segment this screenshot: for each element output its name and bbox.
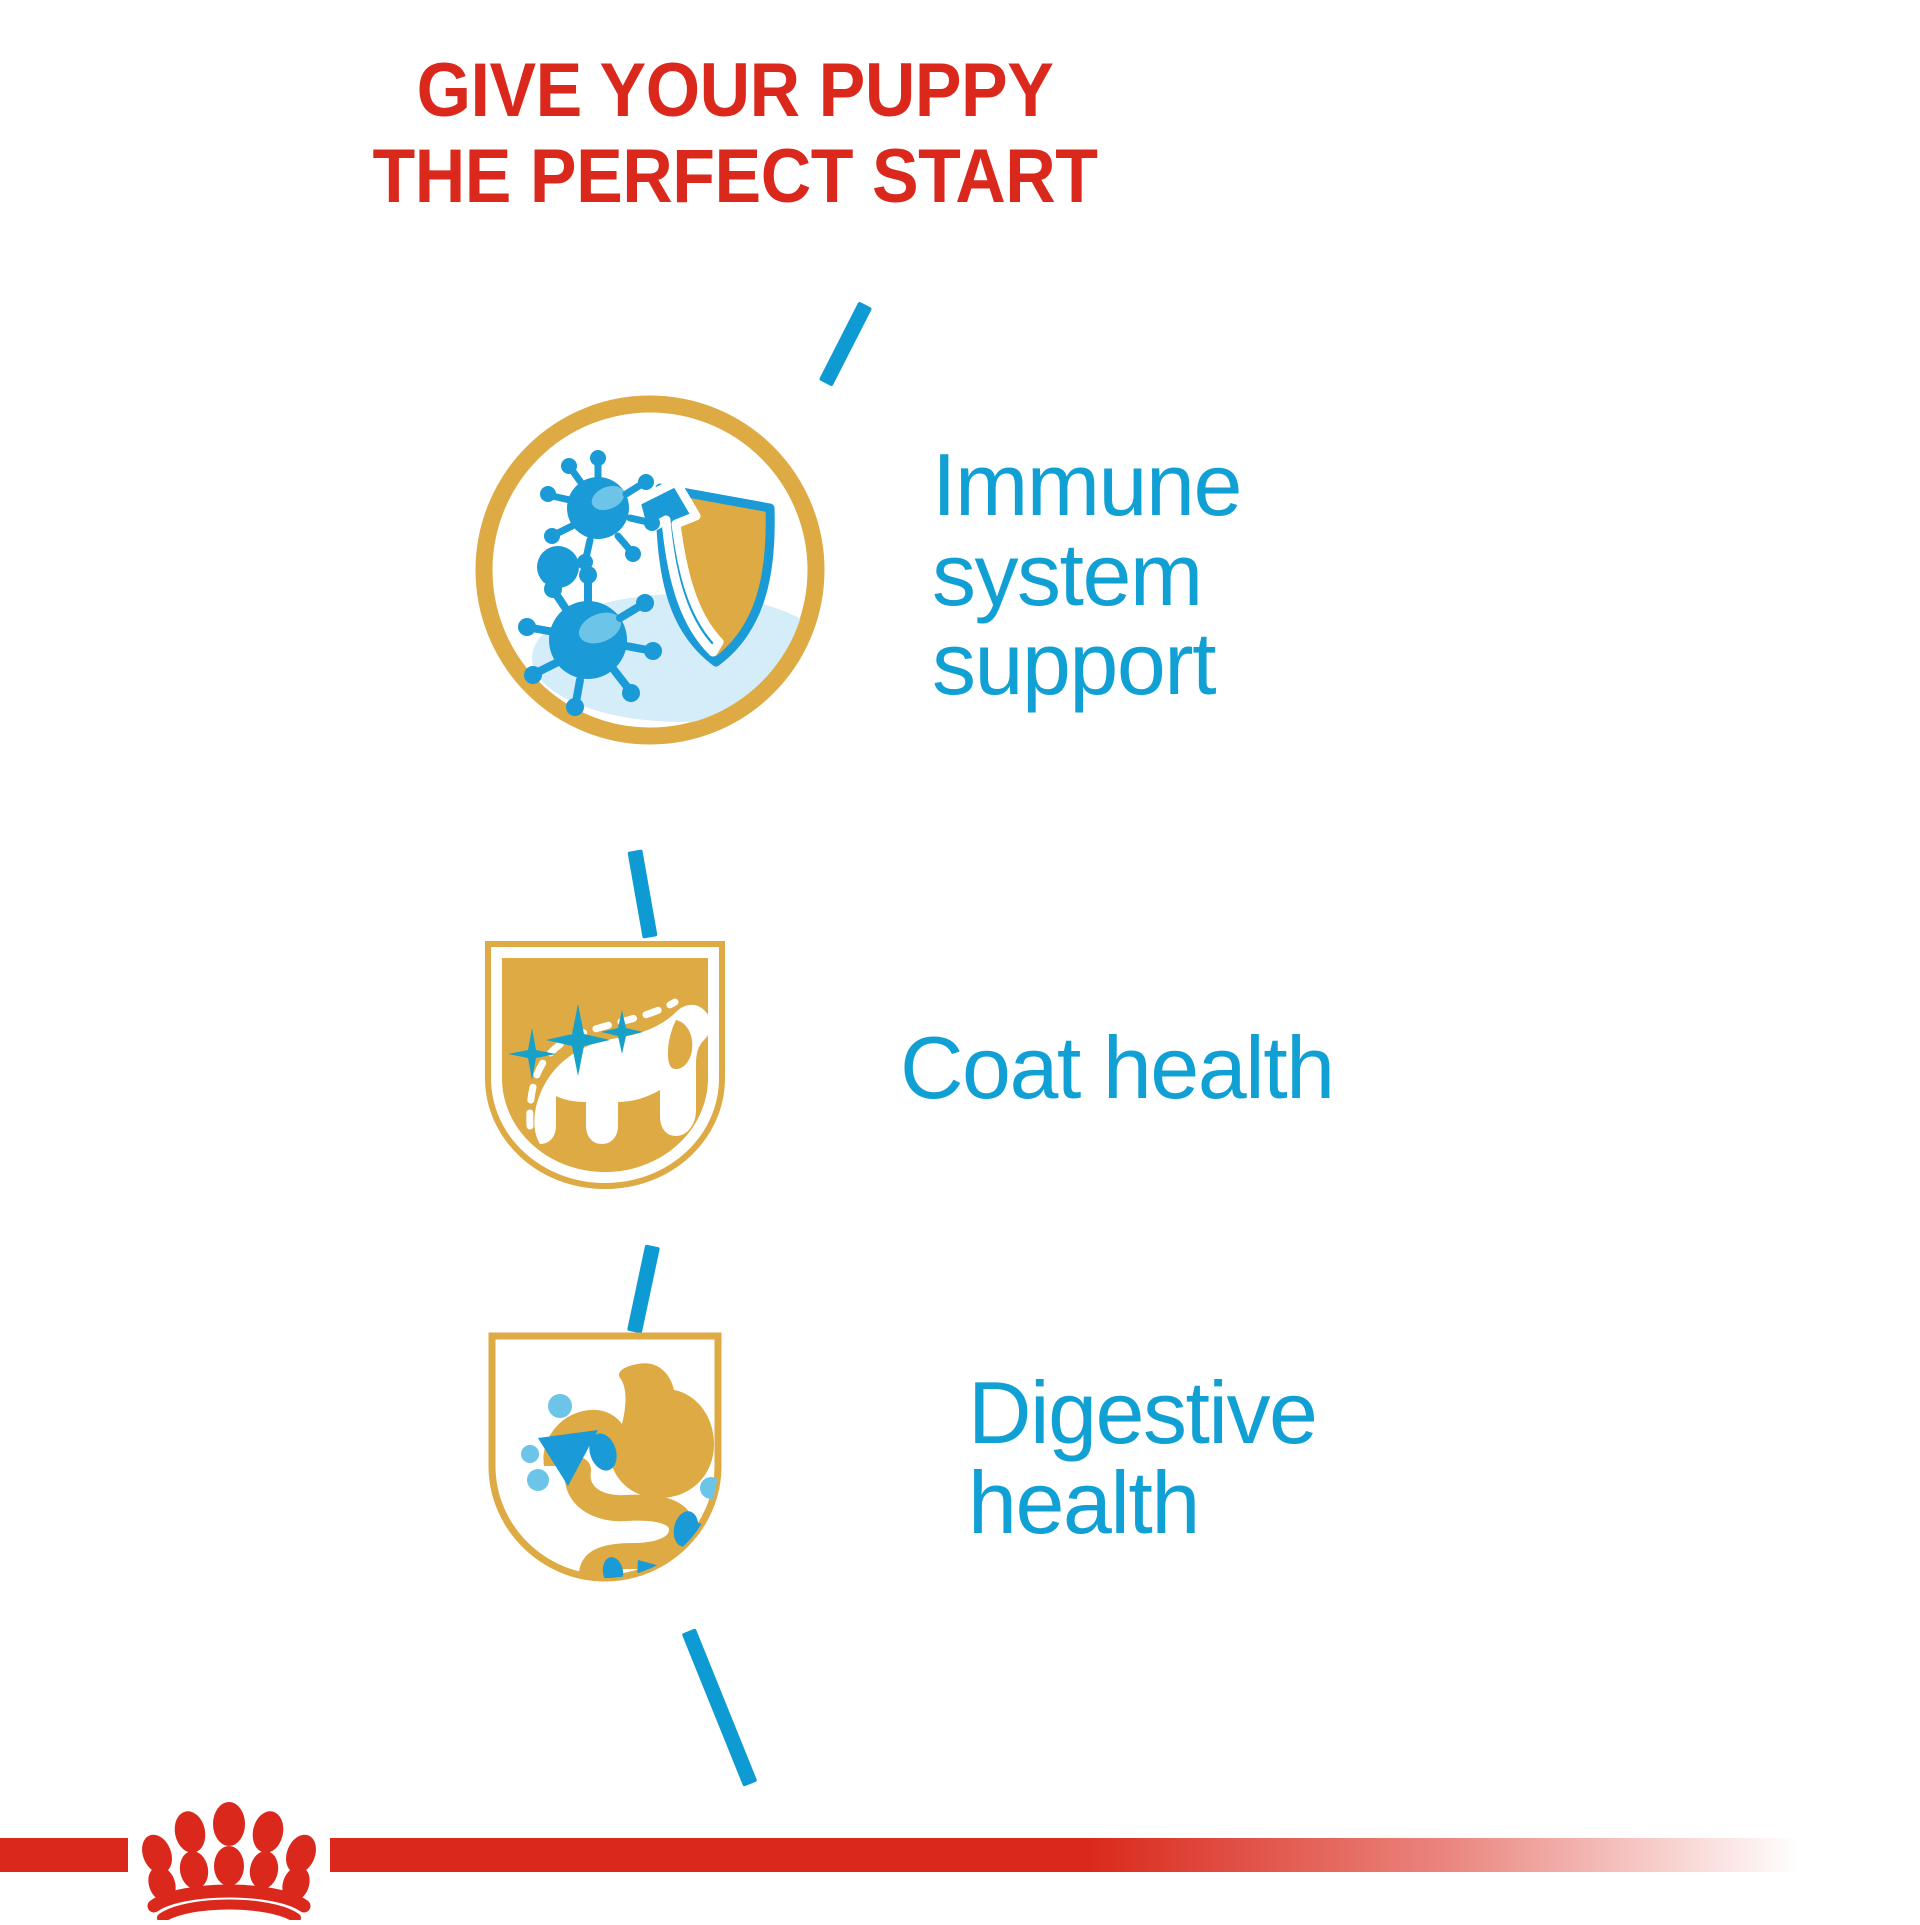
headline-line-2: THE PERFECT START bbox=[59, 134, 1411, 220]
brand-bar-left bbox=[0, 1838, 128, 1872]
connector-dash-top bbox=[819, 301, 872, 386]
coat-health-icon bbox=[470, 930, 740, 1205]
connector-dash-bottom bbox=[682, 1628, 758, 1787]
feature-label-coat: Coat health bbox=[900, 1023, 1334, 1113]
feature-row-immune: Immune system support bbox=[470, 390, 1241, 755]
page-title: GIVE YOUR PUPPY THE PERFECT START bbox=[59, 48, 1411, 220]
connector-dash-immune-coat bbox=[627, 849, 657, 938]
feature-label-immune: Immune system support bbox=[932, 440, 1241, 709]
feature-row-digestive: Digestive health bbox=[470, 1320, 1316, 1595]
immune-system-support-icon bbox=[470, 390, 830, 755]
feature-row-coat: Coat health bbox=[470, 930, 1334, 1205]
royal-canin-crown-icon bbox=[128, 1800, 330, 1920]
digestive-health-icon bbox=[470, 1320, 740, 1595]
feature-label-digestive: Digestive health bbox=[968, 1368, 1316, 1548]
brand-bar-right bbox=[330, 1838, 1920, 1872]
headline-line-1: GIVE YOUR PUPPY bbox=[59, 48, 1411, 134]
brand-footer bbox=[0, 1800, 1920, 1920]
